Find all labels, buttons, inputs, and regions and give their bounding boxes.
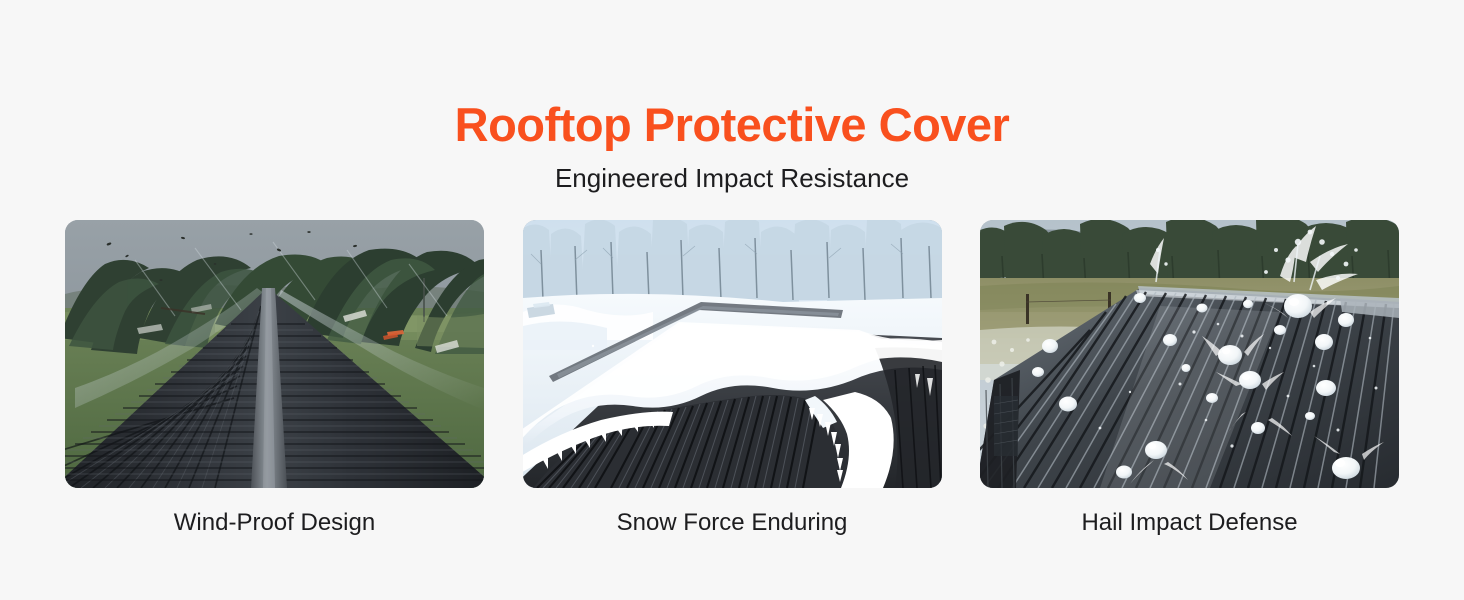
- feature-caption-wind: Wind-Proof Design: [174, 507, 375, 539]
- wind-proof-roof-photo: [65, 220, 484, 488]
- hail-impact-roof-photo: [980, 220, 1399, 488]
- page-subtitle: Engineered Impact Resistance: [0, 161, 1464, 195]
- feature-card-snow: Snow Force Enduring: [523, 220, 942, 539]
- feature-card-hail: Hail Impact Defense: [980, 220, 1399, 539]
- feature-caption-snow: Snow Force Enduring: [617, 507, 848, 539]
- snow-force-roof-photo: [523, 220, 942, 488]
- feature-card-wind: Wind-Proof Design: [65, 220, 484, 539]
- promo-banner: Rooftop Protective Cover Engineered Impa…: [0, 0, 1464, 600]
- page-title: Rooftop Protective Cover: [0, 96, 1464, 154]
- feature-caption-hail: Hail Impact Defense: [1081, 507, 1297, 539]
- feature-card-row: Wind-Proof Design: [65, 220, 1399, 550]
